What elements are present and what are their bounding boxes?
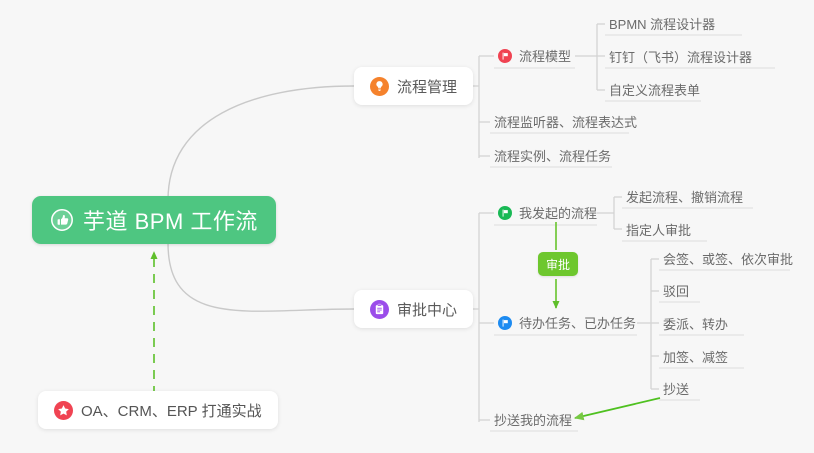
leaf-node-process-listener[interactable]: 流程监听器、流程表达式 bbox=[490, 112, 643, 134]
root-label: 芋道 BPM 工作流 bbox=[83, 204, 258, 236]
root-node[interactable]: 芋道 BPM 工作流 bbox=[32, 196, 276, 244]
leaf-node-process-instance[interactable]: 流程实例、流程任务 bbox=[490, 146, 617, 168]
branch-node-approval-center[interactable]: 审批中心 bbox=[354, 290, 473, 328]
arrow-cc-to-cc-my-process bbox=[575, 398, 660, 418]
topic-node-todo-done-tasks[interactable]: 待办任务、已办任务 bbox=[494, 313, 640, 335]
topic-label-todo-done-tasks: 待办任务、已办任务 bbox=[519, 313, 636, 332]
branch-label-approval-center: 审批中心 bbox=[397, 299, 457, 320]
thumbs-up-icon bbox=[50, 208, 74, 232]
branch-label-process-management: 流程管理 bbox=[397, 76, 457, 97]
leaf-node-cc-to-me[interactable]: 抄送我的流程 bbox=[490, 410, 578, 432]
leaf-node-assignee-approval[interactable]: 指定人审批 bbox=[622, 220, 697, 242]
leaf-node-multi-approval[interactable]: 会签、或签、依次审批 bbox=[659, 249, 799, 271]
flag-icon bbox=[498, 316, 512, 330]
edge-root-to-approval-center bbox=[168, 243, 354, 311]
mindmap-canvas: 芋道 BPM 工作流 流程管理 流程模型 BPMN 流程设计器 钉钉（飞书）流程… bbox=[0, 0, 814, 453]
topic-node-my-initiated[interactable]: 我发起的流程 bbox=[494, 203, 601, 225]
callout-badge-approval: 审批 bbox=[538, 252, 578, 276]
leaf-node-reject[interactable]: 驳回 bbox=[659, 281, 695, 303]
footer-label: OA、CRM、ERP 打通实战 bbox=[81, 400, 262, 421]
leaf-node-custom-form[interactable]: 自定义流程表单 bbox=[605, 80, 706, 102]
edge-root-to-process-management bbox=[168, 86, 354, 200]
leaf-node-delegate-transfer[interactable]: 委派、转办 bbox=[659, 314, 734, 336]
leaf-node-bpmn-designer[interactable]: BPMN 流程设计器 bbox=[605, 14, 721, 36]
flag-icon bbox=[498, 206, 512, 220]
leaf-node-carbon-copy[interactable]: 抄送 bbox=[659, 379, 695, 401]
topic-node-process-model[interactable]: 流程模型 bbox=[494, 46, 575, 68]
leaf-node-add-remove-sign[interactable]: 加签、减签 bbox=[659, 347, 734, 369]
lightbulb-icon bbox=[370, 77, 389, 96]
topic-label-process-model: 流程模型 bbox=[519, 46, 571, 65]
footer-node-integration[interactable]: OA、CRM、ERP 打通实战 bbox=[38, 391, 278, 429]
clipboard-icon bbox=[370, 300, 389, 319]
flag-icon bbox=[498, 49, 512, 63]
branch-node-process-management[interactable]: 流程管理 bbox=[354, 67, 473, 105]
leaf-node-start-cancel-process[interactable]: 发起流程、撤销流程 bbox=[622, 187, 749, 209]
callout-badge-label: 审批 bbox=[546, 256, 570, 273]
star-icon bbox=[54, 401, 73, 420]
leaf-node-dingtalk-designer[interactable]: 钉钉（飞书）流程设计器 bbox=[605, 47, 758, 69]
topic-label-my-initiated: 我发起的流程 bbox=[519, 203, 597, 222]
